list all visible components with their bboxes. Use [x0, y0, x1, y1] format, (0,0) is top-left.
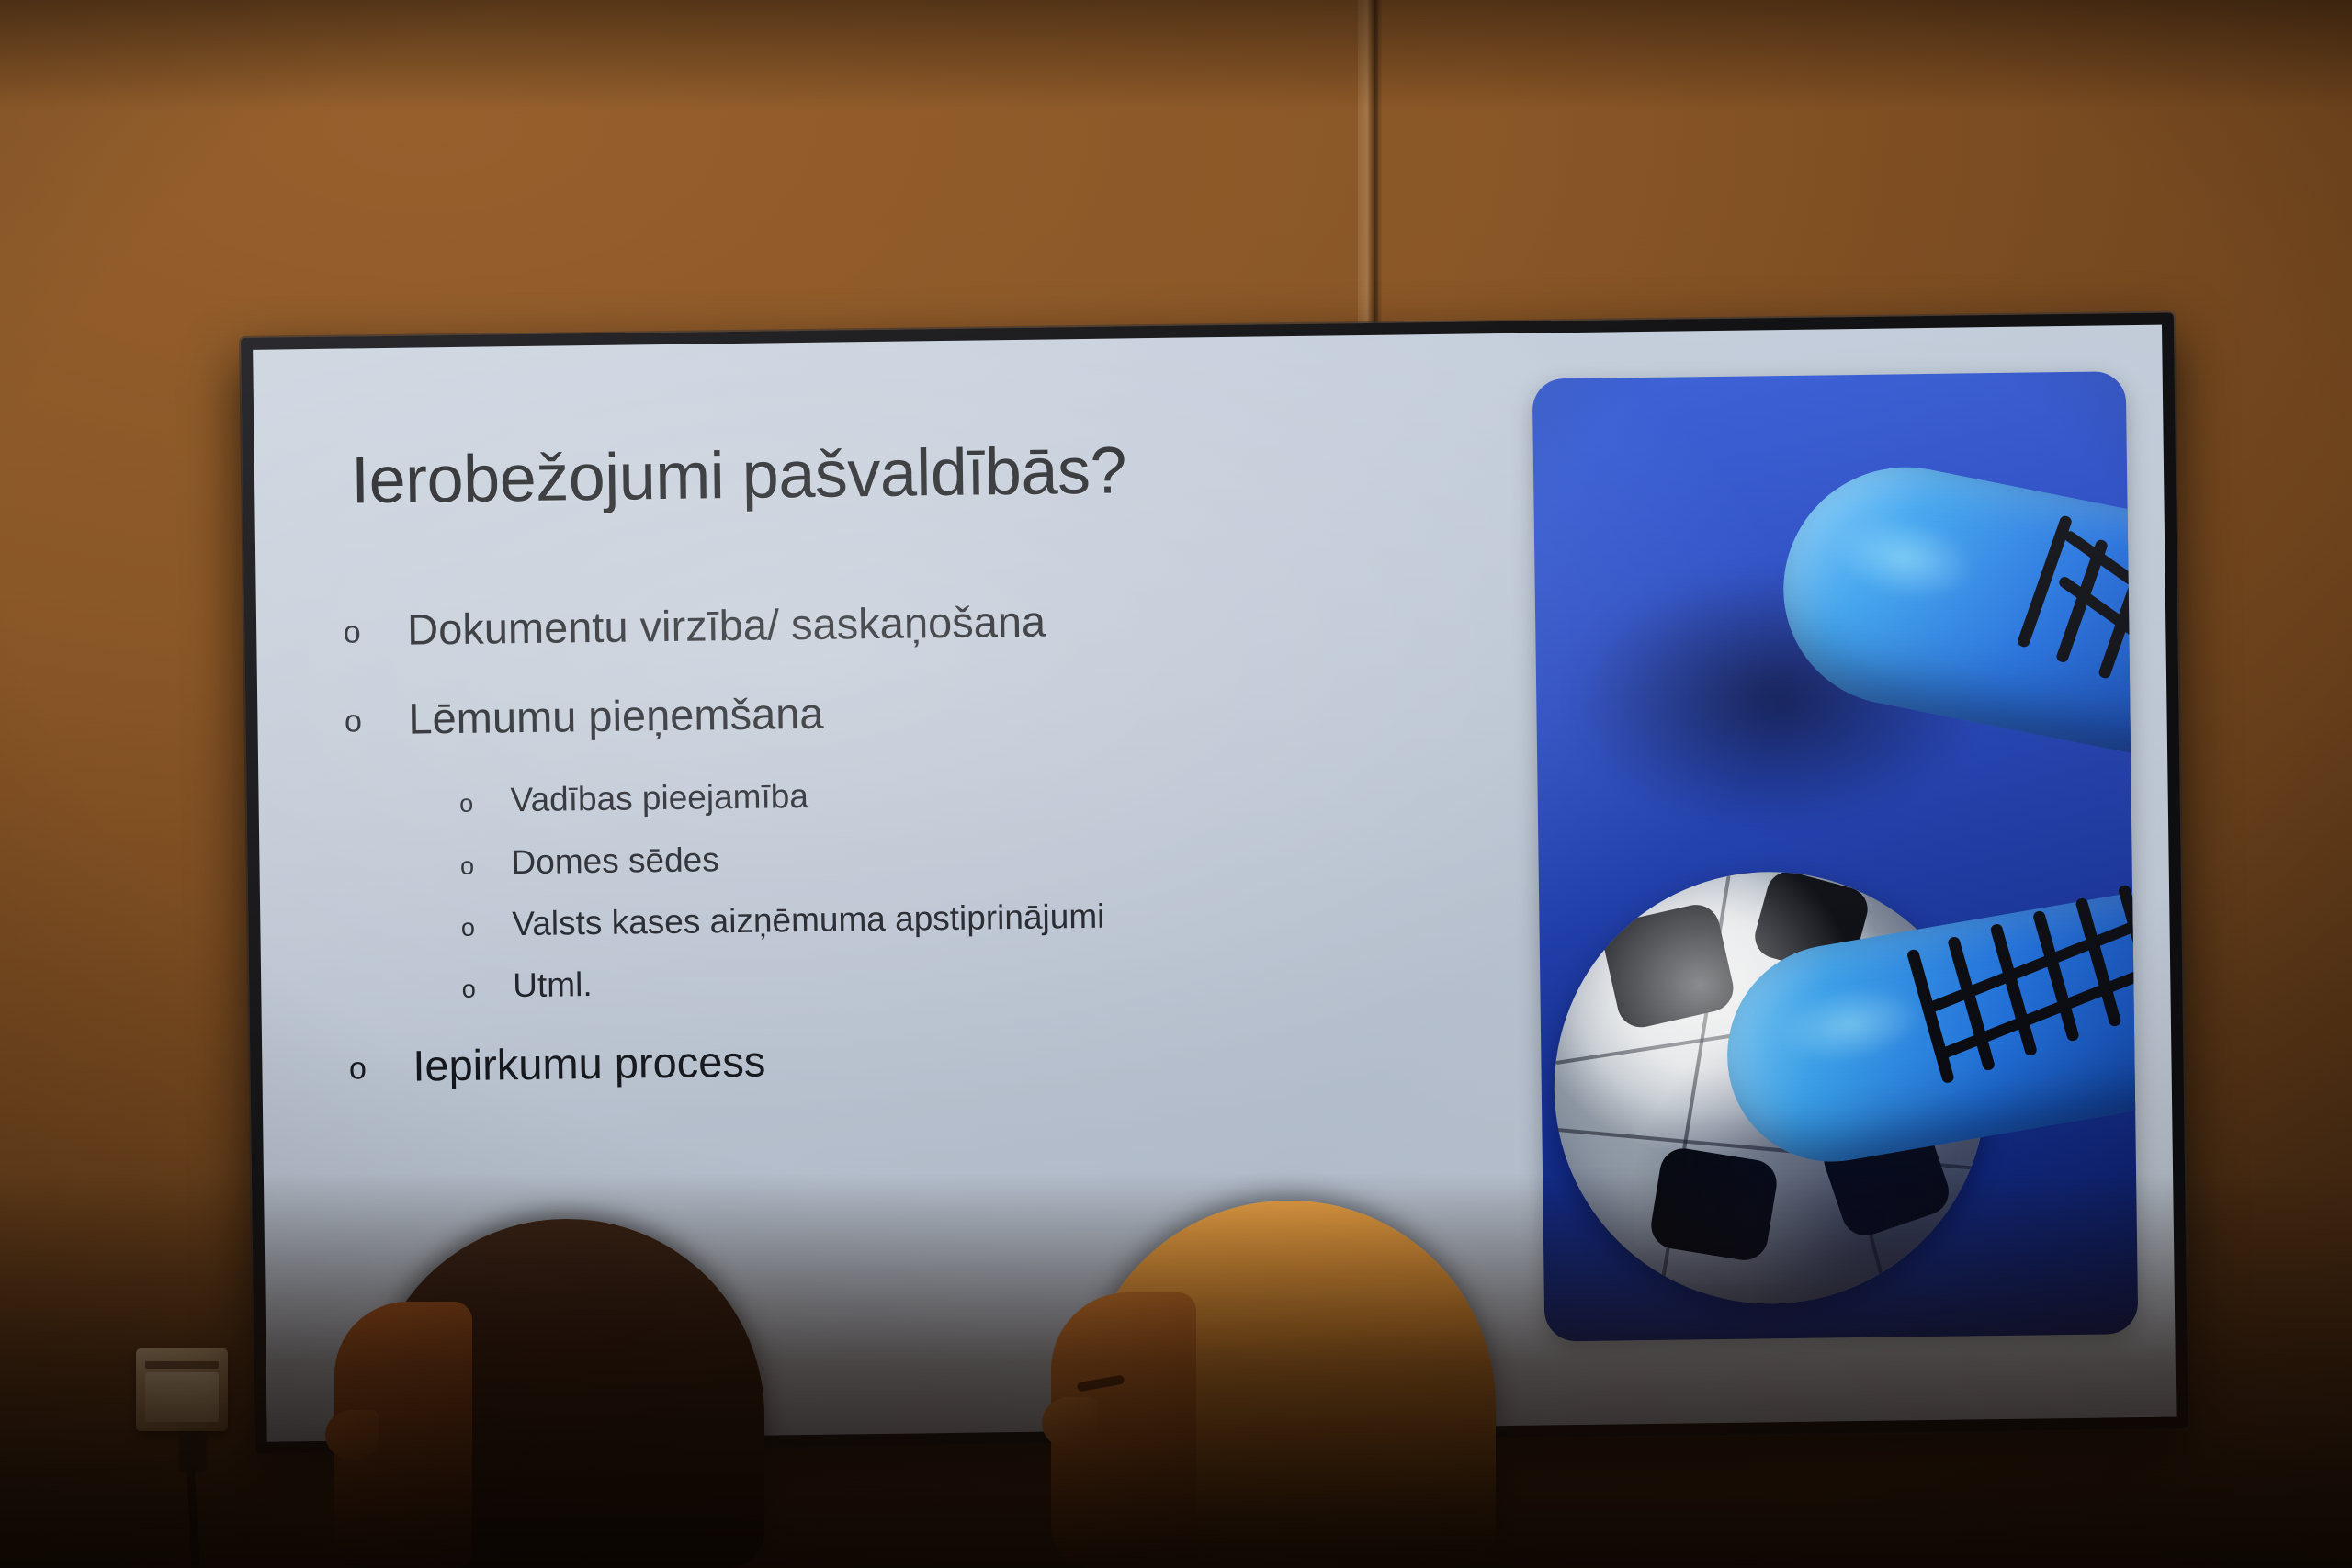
- sub-bullet-text: Domes sēdes: [511, 840, 719, 881]
- sub-bullet-item: o Domes sēdes: [458, 831, 1437, 882]
- sub-bullet-item: o Utml.: [459, 954, 1439, 1005]
- bullet-item: o Iepirkumu process: [346, 1028, 1441, 1091]
- sub-bullet-marker-icon: o: [458, 843, 477, 879]
- bullet-text: Dokumentu virzība/ saskaņošana: [407, 597, 1046, 655]
- sub-bullet-item: o Vadības pieejamība: [457, 769, 1436, 819]
- ceiling-shadow: [0, 0, 2352, 110]
- slide-bullet-list: o Dokumentu virzība/ saskaņošana o Lēmum…: [341, 592, 1441, 1131]
- bullet-marker-icon: o: [341, 605, 364, 649]
- sub-bullet-marker-icon: o: [457, 782, 476, 818]
- bullet-text: Lēmumu pieņemšana: [408, 688, 824, 742]
- slide-title: Ierobežojumi pašvaldībās?: [351, 433, 1127, 518]
- sub-bullet-text: Utml.: [513, 966, 593, 1006]
- photo-scene: Ierobežojumi pašvaldībās? o Dokumentu vi…: [0, 0, 2352, 1568]
- sub-bullet-marker-icon: o: [459, 967, 479, 1003]
- sub-bullet-text: Valsts kases aizņēmuma apstiprinājumi: [512, 897, 1105, 943]
- bullet-item: o Lēmumu pieņemšana: [342, 681, 1436, 744]
- bullet-text: Iepirkumu process: [413, 1036, 766, 1090]
- bullet-item: o Dokumentu virzība/ saskaņošana: [341, 592, 1435, 655]
- boot-highlight: [1812, 499, 2031, 647]
- foreground-shadow: [0, 1173, 2352, 1568]
- bullet-marker-icon: o: [342, 694, 365, 739]
- sub-bullet-item: o Valsts kases aizņēmuma apstiprinājumi: [458, 893, 1438, 943]
- sub-bullet-list: o Vadības pieejamība o Domes sēdes o Val…: [457, 769, 1439, 1006]
- sub-bullet-text: Vadības pieejamība: [510, 777, 808, 819]
- sub-bullet-marker-icon: o: [458, 906, 478, 942]
- bullet-marker-icon: o: [346, 1042, 369, 1086]
